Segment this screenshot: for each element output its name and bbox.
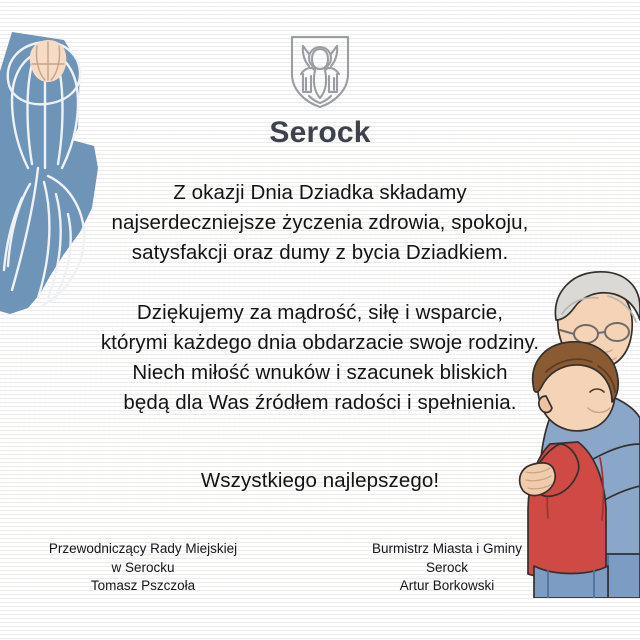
signature-mayor: Burmistrz Miasta i Gminy Serock Artur Bo… (304, 540, 640, 596)
signature-chairman: Przewodniczący Rady Miejskiej w Serocku … (0, 540, 304, 596)
serock-coat-of-arms-shield-icon (289, 34, 351, 110)
greeting-message: Z okazji Dnia Dziadka składamy najserdec… (48, 178, 592, 496)
brand-name: Serock (0, 118, 640, 148)
message-paragraph-2: Dziękujemy za mądrość, siłę i wsparcie, … (48, 298, 592, 418)
message-closing: Wszystkiego najlepszego! (48, 466, 592, 496)
greeting-card: Serock Z okazji Dnia Dziadka składamy na… (0, 0, 640, 640)
signature-block: Przewodniczący Rady Miejskiej w Serocku … (0, 540, 640, 596)
brand-logo-block: Serock (0, 34, 640, 148)
message-paragraph-1: Z okazji Dnia Dziadka składamy najserdec… (48, 178, 592, 268)
